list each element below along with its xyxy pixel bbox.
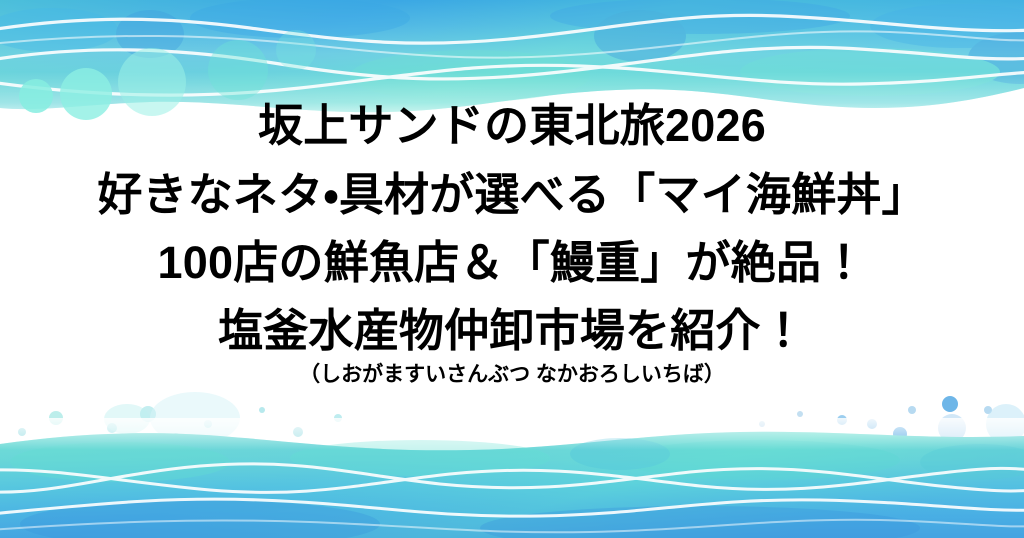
bubble-dot [837, 415, 847, 425]
bubble-dot [18, 428, 26, 436]
bubble-dot [986, 404, 1024, 444]
title-line-1: 坂上サンドの東北旅2026 [0, 103, 1024, 148]
bubble-dot [942, 396, 958, 412]
bubble-dot [259, 407, 265, 413]
bubble-dot [49, 411, 63, 425]
title-block: 坂上サンドの東北旅2026 好きなネタ・具材が選べる「マイ海鮮丼」 100店の鮮… [0, 103, 1024, 385]
bubble-dot [150, 392, 240, 444]
bubble-dot [171, 433, 181, 443]
bubble-dot [984, 406, 992, 414]
bubble-dot [334, 414, 342, 422]
thumbnail-canvas: 坂上サンドの東北旅2026 好きなネタ・具材が選べる「マイ海鮮丼」 100店の鮮… [0, 0, 1024, 538]
bubble-dot [104, 404, 150, 434]
bubble-teal [208, 40, 268, 100]
bubble-dot [140, 406, 156, 422]
water-wave-band-bottom [0, 418, 1024, 538]
bubble-dot [293, 427, 303, 437]
title-line-4: 塩釜水産物仲卸市場を紹介！ [0, 308, 1024, 353]
bubble-dot [797, 411, 803, 417]
bubble-dot [759, 421, 765, 427]
title-subtitle-furigana: （しおがますいさんぶつ なかおろしいちば） [0, 364, 1024, 385]
bubble-dot [938, 414, 966, 442]
bubble-dot [241, 441, 255, 455]
bubble-dot [893, 427, 907, 441]
bubble-dot [204, 420, 212, 428]
title-line-3: 100店の鮮魚店＆「鰻重」が絶品！ [0, 240, 1024, 285]
title-line-2: 好きなネタ・具材が選べる「マイ海鮮丼」 [0, 172, 1024, 217]
bubble-teal [276, 30, 316, 70]
bubble-dot [867, 419, 877, 429]
bubble-dot [70, 442, 78, 450]
bubble-dot [908, 406, 916, 414]
bubble-dot [107, 423, 117, 433]
